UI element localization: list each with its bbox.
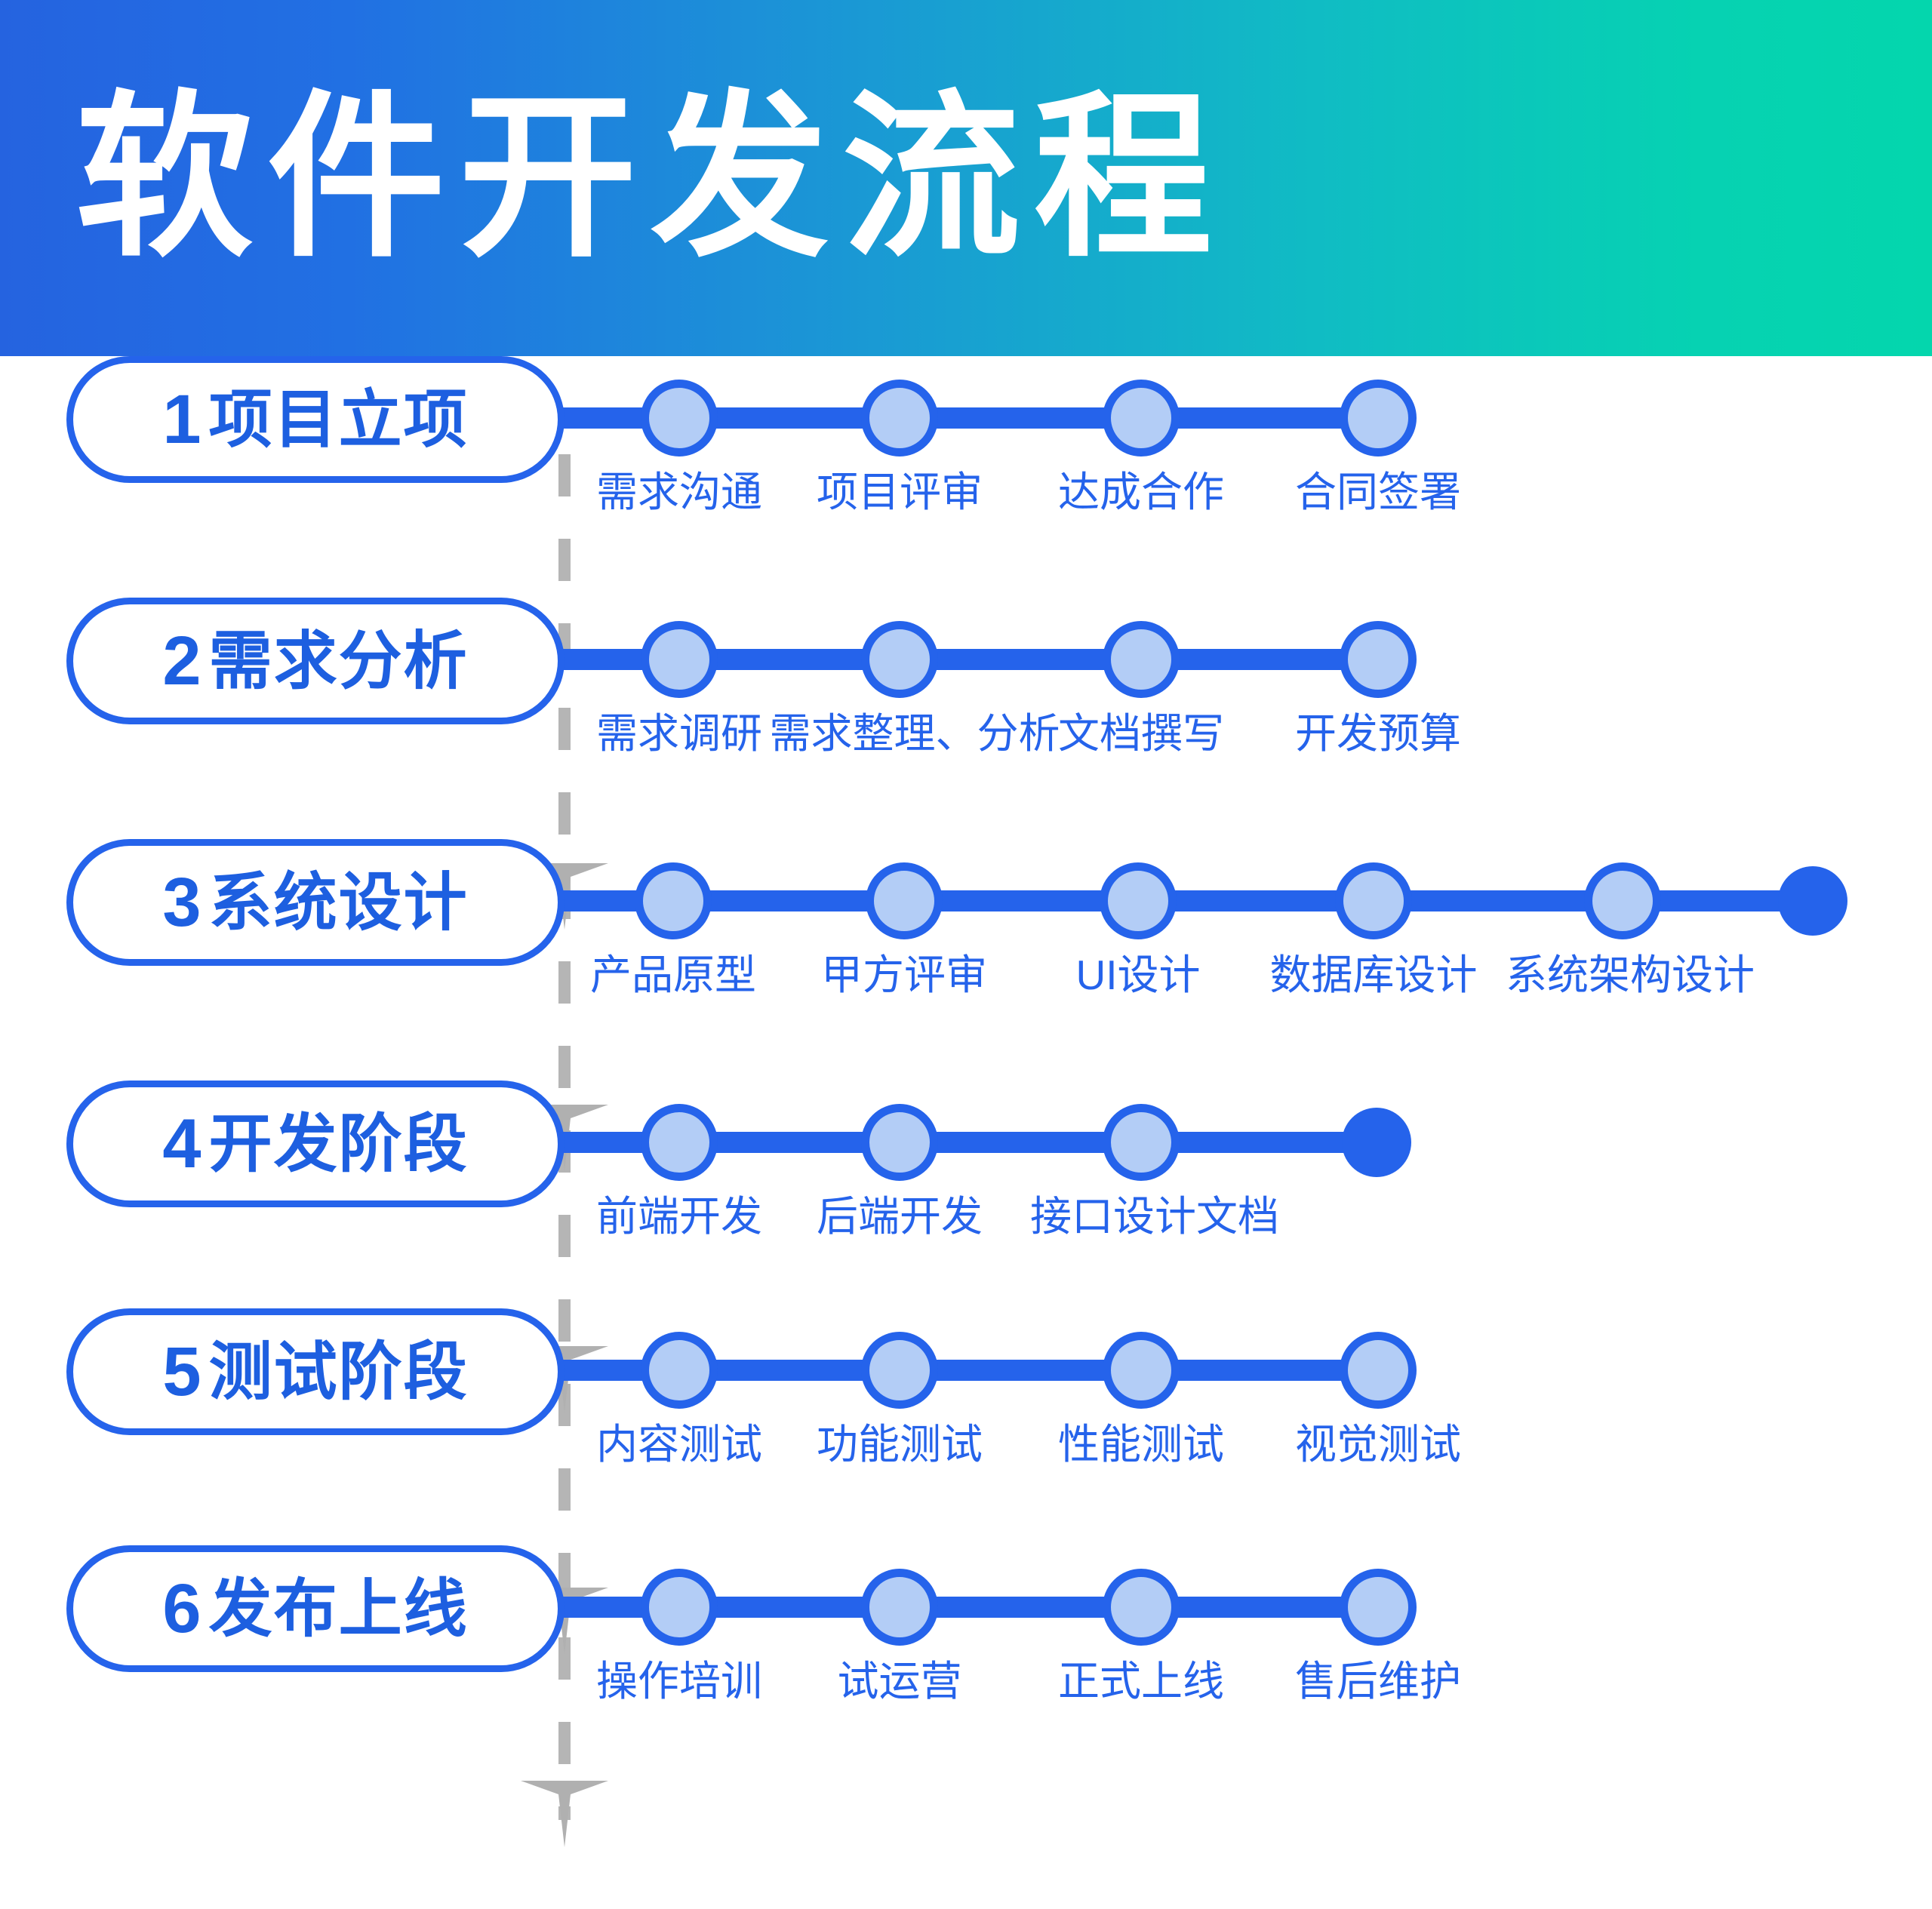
milestone-node[interactable]	[1340, 1332, 1417, 1409]
stage-pill-5[interactable]: 5 测试阶段	[66, 1308, 565, 1435]
stage-number: 4	[162, 1109, 201, 1179]
milestone-label: 需求沟通	[596, 469, 762, 515]
stage-pill-1[interactable]: 1 项目立项	[66, 356, 565, 483]
milestone-node[interactable]	[1103, 380, 1180, 456]
stage-row: 1 项目立项 需求沟通 项目评审 达成合作 合同签署	[0, 356, 1932, 598]
stage-row: 5 测试阶段 内容测试 功能测试 性能测试 视觉测试	[0, 1308, 1932, 1550]
milestone-label: 操作培训	[596, 1658, 762, 1705]
milestone-label: 视觉测试	[1295, 1422, 1461, 1468]
milestone-label: 后端开发	[817, 1194, 983, 1240]
stage-number: 1	[162, 385, 201, 454]
milestone-label: 接口设计文档	[1030, 1194, 1279, 1240]
milestone-label: 性能测试	[1058, 1422, 1224, 1468]
chevron-down-icon	[521, 1781, 608, 1847]
milestone-label: 正式上线	[1058, 1658, 1224, 1705]
milestone-label: 达成合作	[1058, 469, 1224, 515]
milestone-label: 项目评审	[817, 469, 983, 515]
milestone-node[interactable]	[1100, 862, 1177, 939]
stage-name: 需求分析	[209, 629, 469, 693]
milestone-label: 合同签署	[1295, 469, 1461, 515]
milestone-node[interactable]	[1340, 380, 1417, 456]
milestone-node[interactable]	[1584, 862, 1661, 939]
milestone-node[interactable]	[1103, 1104, 1180, 1181]
milestone-label: 前端开发	[596, 1194, 762, 1240]
page-title: 软件开发流程	[75, 89, 1226, 267]
stage-number: 6	[162, 1574, 201, 1643]
header-banner: 软件开发流程	[0, 0, 1932, 356]
process-flow: 1 项目立项 需求沟通 项目评审 达成合作 合同签署 2 需求分析 需求调研 需…	[0, 356, 1932, 1909]
stage-row: 3 系统设计 产品原型 甲方评审 UI设计 数据库设计 系统架构设计	[0, 839, 1932, 1081]
milestone-node[interactable]	[861, 621, 938, 698]
milestone-node[interactable]	[1103, 621, 1180, 698]
milestone-node[interactable]	[641, 380, 718, 456]
stage-pill-6[interactable]: 6 发布上线	[66, 1545, 565, 1672]
milestone-node[interactable]	[1340, 621, 1417, 698]
stage-number: 5	[162, 1337, 201, 1406]
stage-number: 2	[162, 626, 201, 696]
stage-pill-3[interactable]: 3 系统设计	[66, 839, 565, 966]
stage-name: 开发阶段	[209, 1112, 469, 1176]
milestone-node[interactable]	[641, 1104, 718, 1181]
stage-number: 3	[162, 868, 201, 937]
milestone-label: 试运营	[837, 1658, 961, 1705]
stage-name: 项目立项	[209, 388, 469, 451]
milestone-node[interactable]	[861, 1332, 938, 1409]
milestone-label: 甲方评审	[821, 952, 987, 998]
milestone-label: 开发预算	[1295, 711, 1461, 757]
milestone-node[interactable]	[635, 862, 712, 939]
stage-name: 系统设计	[209, 871, 469, 934]
track-endcap	[1342, 1108, 1411, 1177]
milestone-node[interactable]	[641, 1332, 718, 1409]
stage-row: 4 开发阶段 前端开发 后端开发 接口设计文档	[0, 1081, 1932, 1322]
milestone-label: 数据库设计	[1269, 952, 1477, 998]
stage-pill-4[interactable]: 4 开发阶段	[66, 1081, 565, 1207]
milestone-node[interactable]	[641, 1569, 718, 1646]
milestone-label: 功能测试	[817, 1422, 983, 1468]
milestone-node[interactable]	[861, 1569, 938, 1646]
milestone-node[interactable]	[861, 1104, 938, 1181]
milestone-node[interactable]	[1103, 1332, 1180, 1409]
milestone-label: 需求调研	[596, 711, 762, 757]
milestone-label: 系统架构设计	[1506, 952, 1755, 998]
milestone-label: 需求整理、分析	[769, 711, 1060, 757]
stage-row: 2 需求分析 需求调研 需求整理、分析 文档撰写 开发预算	[0, 598, 1932, 839]
stage-name: 测试阶段	[209, 1340, 469, 1403]
milestone-label: 内容测试	[596, 1422, 762, 1468]
milestone-node[interactable]	[861, 380, 938, 456]
stage-pill-2[interactable]: 2 需求分析	[66, 598, 565, 724]
milestone-node[interactable]	[866, 862, 943, 939]
milestone-node[interactable]	[1335, 862, 1412, 939]
milestone-node[interactable]	[1103, 1569, 1180, 1646]
milestone-label: UI设计	[1075, 952, 1200, 998]
stage-name: 发布上线	[209, 1577, 469, 1640]
track-endcap	[1778, 866, 1847, 936]
milestone-node[interactable]	[641, 621, 718, 698]
milestone-label: 文档撰写	[1058, 711, 1224, 757]
milestone-label: 产品原型	[590, 952, 756, 998]
milestone-label: 售后维护	[1295, 1658, 1461, 1705]
milestone-node[interactable]	[1340, 1569, 1417, 1646]
stage-row: 6 发布上线 操作培训 试运营 正式上线 售后维护	[0, 1545, 1932, 1787]
